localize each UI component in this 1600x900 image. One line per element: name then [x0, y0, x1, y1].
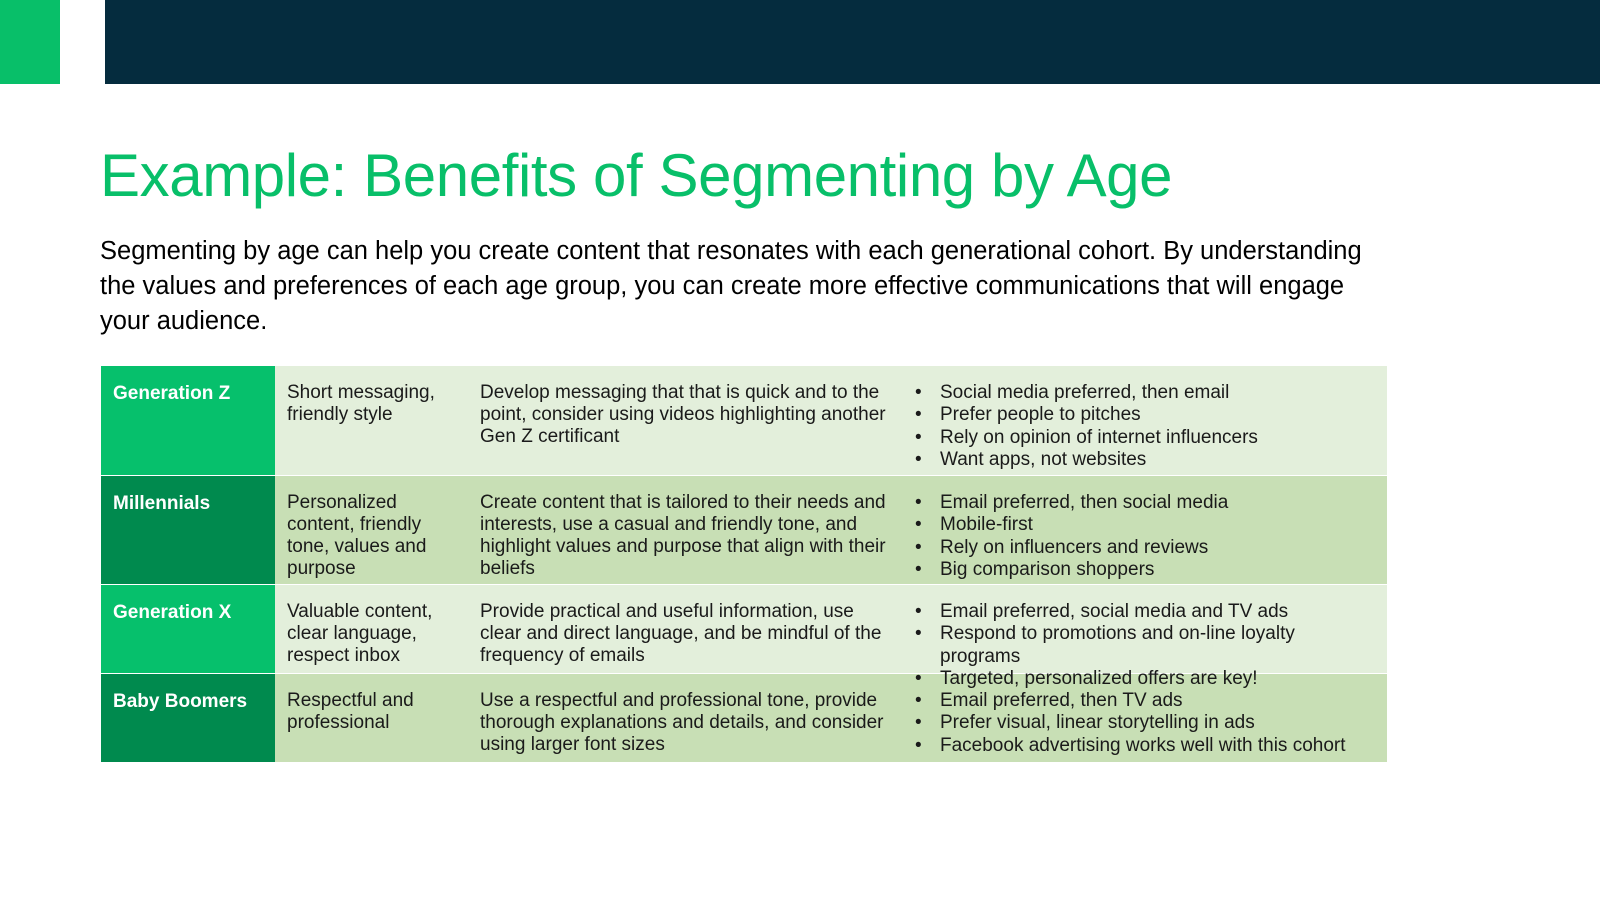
generation-cell: Millennials [101, 476, 275, 584]
list-item: Big comparison shoppers [906, 559, 1373, 581]
guidance-cell: Develop messaging that that is quick and… [470, 366, 900, 475]
table-row: Generation X Valuable content, clear lan… [101, 585, 1387, 673]
style-cell: Personalized content, friendly tone, val… [275, 476, 470, 584]
preferences-cell: Email preferred, social media and TV ads… [900, 585, 1387, 673]
style-text: Personalized content, friendly tone, val… [287, 492, 456, 580]
intro-paragraph: Segmenting by age can help you create co… [100, 234, 1390, 339]
guidance-cell: Use a respectful and professional tone, … [470, 674, 900, 762]
guidance-text: Develop messaging that that is quick and… [480, 382, 886, 448]
list-item: Prefer people to pitches [906, 404, 1373, 426]
style-text: Short messaging, friendly style [287, 382, 456, 426]
list-item: Social media preferred, then email [906, 382, 1373, 404]
list-item: Mobile-first [906, 514, 1373, 536]
list-item: Targeted, personalized offers are key! [906, 668, 1373, 690]
page-title: Example: Benefits of Segmenting by Age [100, 140, 1520, 212]
preferences-cell: Social media preferred, then email Prefe… [900, 366, 1387, 475]
style-text: Respectful and professional [287, 690, 456, 734]
top-bar [0, 0, 1600, 84]
list-item: Rely on influencers and reviews [906, 537, 1373, 559]
preferences-list: Email preferred, then social media Mobil… [906, 492, 1373, 582]
generation-label: Millennials [113, 492, 275, 516]
list-item: Email preferred, then social media [906, 492, 1373, 514]
preferences-list: Email preferred, social media and TV ads… [906, 601, 1373, 691]
style-text: Valuable content, clear language, respec… [287, 601, 456, 667]
preferences-list: Email preferred, then TV ads Prefer visu… [906, 690, 1373, 757]
topbar-accent-block [0, 0, 60, 84]
list-item: Prefer visual, linear storytelling in ad… [906, 712, 1373, 734]
list-item: Email preferred, social media and TV ads [906, 601, 1373, 623]
list-item: Email preferred, then TV ads [906, 690, 1373, 712]
guidance-text: Create content that is tailored to their… [480, 492, 886, 580]
slide: Example: Benefits of Segmenting by Age S… [0, 0, 1600, 900]
list-item: Rely on opinion of internet influencers [906, 427, 1373, 449]
list-item: Respond to promotions and on-line loyalt… [906, 623, 1373, 668]
guidance-text: Provide practical and useful information… [480, 601, 886, 667]
table-row: Millennials Personalized content, friend… [101, 476, 1387, 584]
style-cell: Valuable content, clear language, respec… [275, 585, 470, 673]
generation-cell: Baby Boomers [101, 674, 275, 762]
guidance-cell: Create content that is tailored to their… [470, 476, 900, 584]
guidance-text: Use a respectful and professional tone, … [480, 690, 886, 756]
style-cell: Short messaging, friendly style [275, 366, 470, 475]
list-item: Facebook advertising works well with thi… [906, 735, 1373, 757]
guidance-cell: Provide practical and useful information… [470, 585, 900, 673]
preferences-cell: Email preferred, then social media Mobil… [900, 476, 1387, 584]
generation-label: Generation Z [113, 382, 275, 406]
generation-cell: Generation Z [101, 366, 275, 475]
topbar-navy-band [105, 0, 1600, 84]
generation-label: Generation X [113, 601, 275, 625]
preferences-list: Social media preferred, then email Prefe… [906, 382, 1373, 472]
table-row: Generation Z Short messaging, friendly s… [101, 366, 1387, 475]
style-cell: Respectful and professional [275, 674, 470, 762]
list-item: Want apps, not websites [906, 449, 1373, 471]
generations-table: Generation Z Short messaging, friendly s… [101, 366, 1387, 762]
generation-cell: Generation X [101, 585, 275, 673]
generation-label: Baby Boomers [113, 690, 275, 714]
footer: Institute for Credentialing Excellence E… [0, 820, 1600, 900]
